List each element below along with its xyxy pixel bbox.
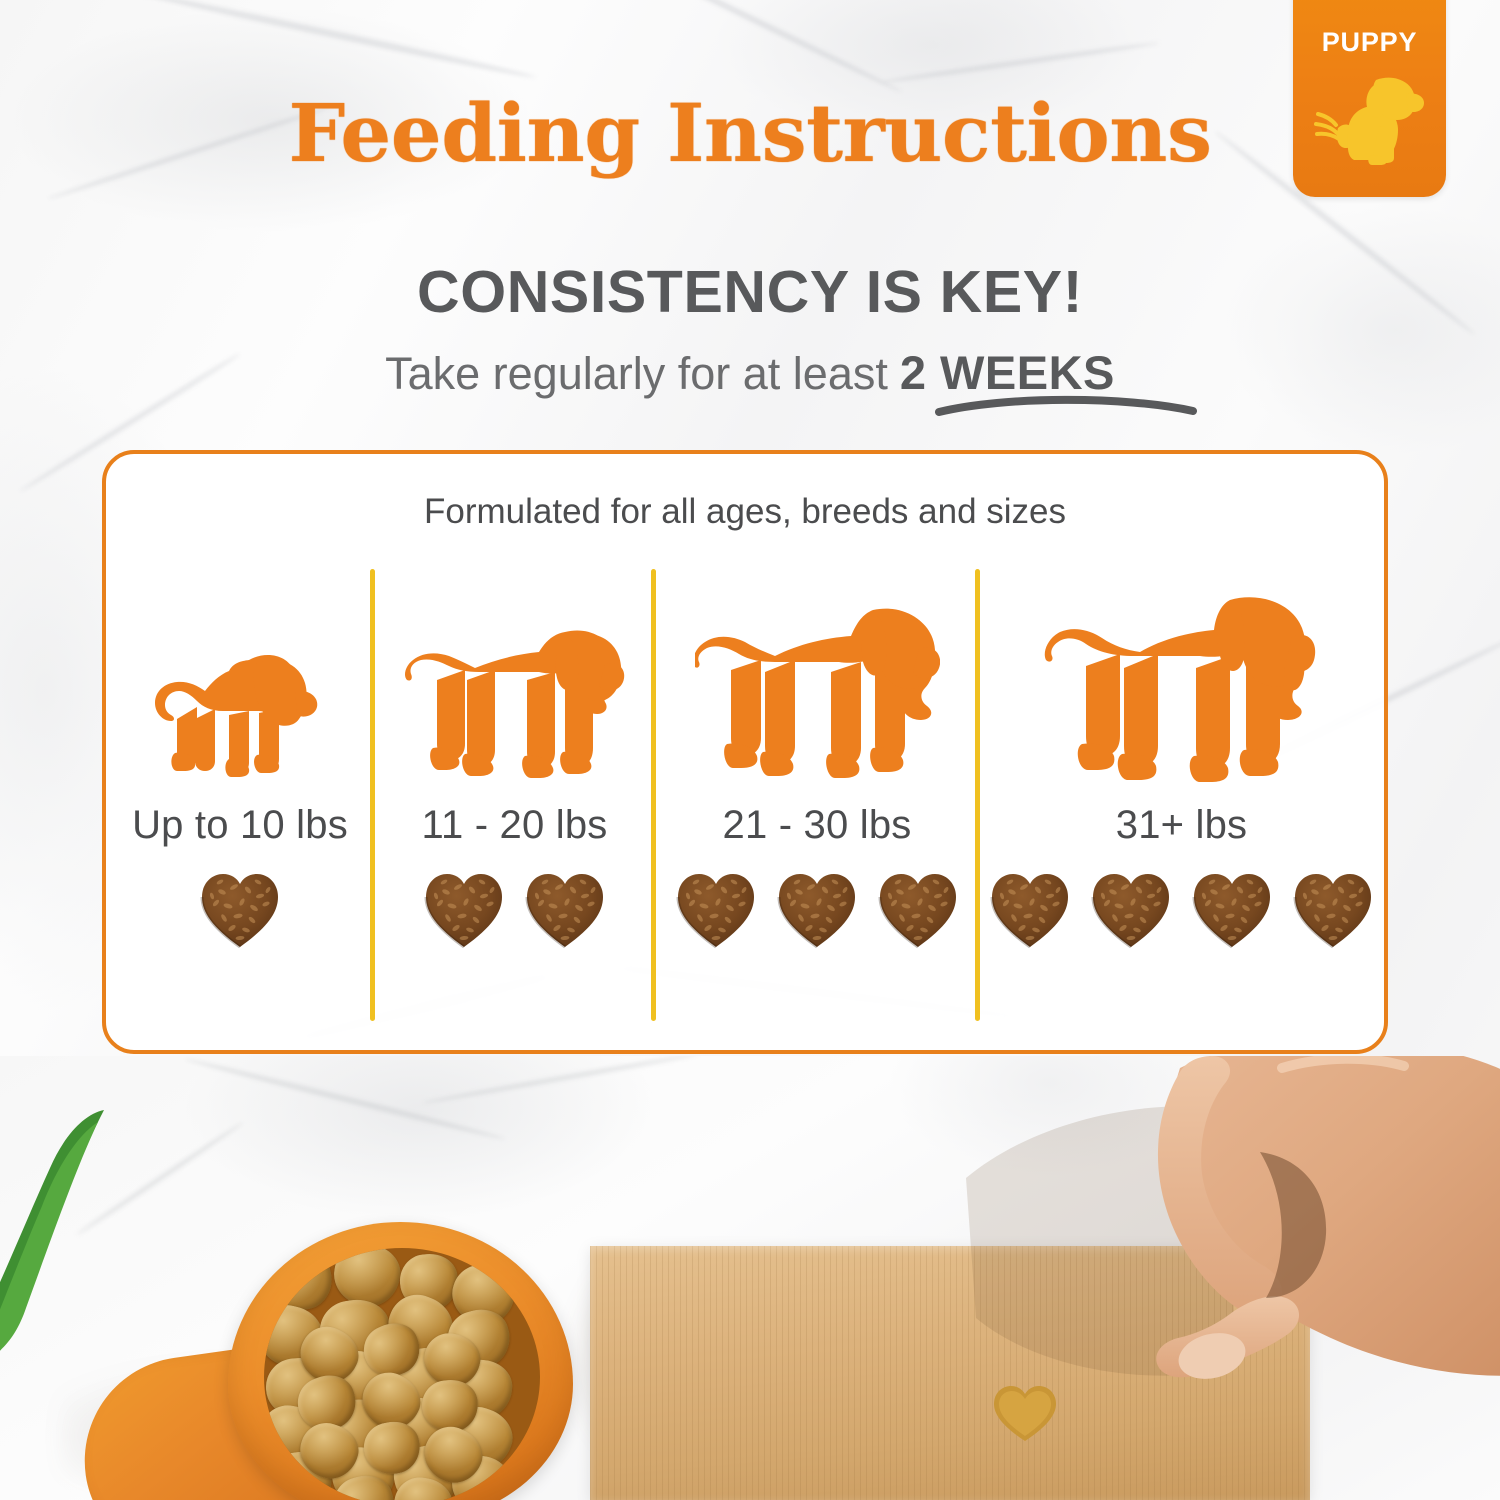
heart-treat-icon — [523, 870, 607, 950]
heart-treat-icon — [1089, 870, 1173, 950]
heart-treat-icon — [674, 870, 758, 950]
bowl-kibble-fill — [264, 1248, 540, 1500]
feeding-columns: Up to 10 lbs — [106, 559, 1384, 1029]
large-dog-silhouette-icon — [1044, 594, 1319, 789]
medium-dog-silhouette-icon — [695, 604, 940, 789]
heart-treat-icon — [198, 870, 282, 950]
subline-prefix: Take regularly for at least — [385, 348, 888, 399]
heart-treat-in-hand-icon — [992, 1384, 1058, 1444]
dog-illustration — [153, 559, 328, 789]
weight-label: 31+ lbs — [1116, 803, 1248, 848]
heart-treat-icon — [1291, 870, 1375, 950]
green-leaf — [0, 1102, 108, 1372]
heart-treat-icon — [775, 870, 859, 950]
treat-row — [674, 870, 960, 950]
treat-row — [198, 870, 282, 950]
feeding-card: Formulated for all ages, breeds and size… — [102, 450, 1388, 1054]
headline: CONSISTENCY IS KEY! — [0, 258, 1500, 326]
heart-treat-icon — [422, 870, 506, 950]
feeding-column: 31+ lbs — [979, 559, 1384, 1029]
sitting-puppy-icon — [1314, 70, 1426, 170]
weight-label: Up to 10 lbs — [132, 803, 348, 848]
page-title: Feeding Instructions — [0, 86, 1500, 180]
dog-illustration — [695, 559, 940, 789]
small-dog-silhouette-icon — [405, 624, 625, 789]
heart-treat-icon — [988, 870, 1072, 950]
treat-row — [988, 870, 1375, 950]
heart-treat-icon — [876, 870, 960, 950]
subline: Take regularly for at least2 WEEKS — [0, 345, 1500, 400]
underline-swoosh-icon — [935, 392, 1197, 418]
puppy-silhouette-icon — [153, 649, 328, 789]
weight-label: 21 - 30 lbs — [723, 803, 912, 848]
dog-illustration — [1044, 559, 1319, 789]
product-photo — [0, 1056, 1500, 1500]
puppy-badge[interactable]: PUPPY — [1293, 0, 1446, 197]
feeding-column: 11 - 20 lbs — [374, 559, 655, 1029]
feeding-column: Up to 10 lbs — [106, 559, 374, 1029]
treat-row — [422, 870, 607, 950]
puppy-badge-label: PUPPY — [1293, 27, 1446, 58]
dog-illustration — [405, 559, 625, 789]
heart-treat-icon — [1190, 870, 1274, 950]
weight-label: 11 - 20 lbs — [421, 803, 607, 848]
feeding-column: 21 - 30 lbs — [655, 559, 979, 1029]
